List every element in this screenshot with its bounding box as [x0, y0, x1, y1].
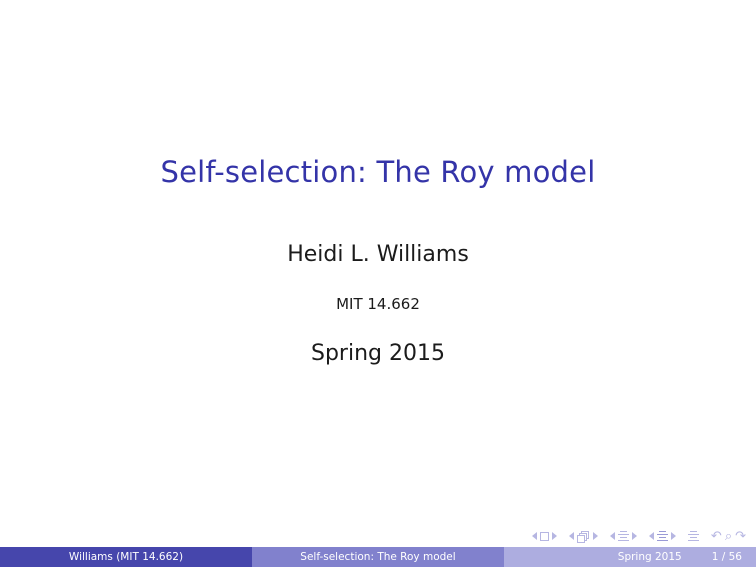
footer-author: Williams (MIT 14.662) — [0, 547, 252, 567]
beamer-navigation-symbols[interactable]: ↶ ⌕ ↷ — [532, 527, 748, 545]
stacked-frames-icon[interactable] — [577, 531, 590, 542]
subsection-navigation-group[interactable] — [610, 531, 637, 542]
prev-slide-icon[interactable] — [532, 532, 537, 540]
next-section-icon[interactable] — [671, 532, 676, 540]
footer-date-page: Spring 2015 1 / 56 — [504, 547, 756, 567]
slide-navigation-group[interactable] — [532, 532, 557, 541]
section-navigation-group[interactable] — [649, 531, 676, 542]
subsection-lines-icon[interactable] — [618, 531, 629, 542]
footer-title: Self-selection: The Roy model — [252, 547, 504, 567]
search-icon[interactable]: ⌕ — [725, 530, 732, 543]
footer-date: Spring 2015 — [618, 551, 682, 563]
prev-frame-icon[interactable] — [569, 532, 574, 540]
presentation-slide: Self-selection: The Roy model Heidi L. W… — [0, 0, 756, 567]
footer-bar: Williams (MIT 14.662) Self-selection: Th… — [0, 547, 756, 567]
forward-icon[interactable]: ↷ — [735, 530, 746, 543]
footer-page-number: 1 / 56 — [712, 551, 742, 563]
institute-name: MIT 14.662 — [0, 295, 756, 313]
page-title: Self-selection: The Roy model — [0, 155, 756, 189]
prev-section-icon[interactable] — [649, 532, 654, 540]
slide-frame-icon[interactable] — [540, 532, 549, 541]
document-navigation-group[interactable] — [688, 531, 699, 542]
back-icon[interactable]: ↶ — [711, 530, 722, 543]
next-slide-icon[interactable] — [552, 532, 557, 540]
prev-subsection-icon[interactable] — [610, 532, 615, 540]
frame-navigation-group[interactable] — [569, 531, 598, 542]
next-frame-icon[interactable] — [593, 532, 598, 540]
section-lines-icon[interactable] — [657, 531, 668, 542]
author-name: Heidi L. Williams — [0, 242, 756, 267]
presentation-date: Spring 2015 — [0, 341, 756, 366]
document-lines-icon[interactable] — [688, 531, 699, 542]
next-subsection-icon[interactable] — [632, 532, 637, 540]
history-navigation-group[interactable]: ↶ ⌕ ↷ — [711, 530, 746, 543]
